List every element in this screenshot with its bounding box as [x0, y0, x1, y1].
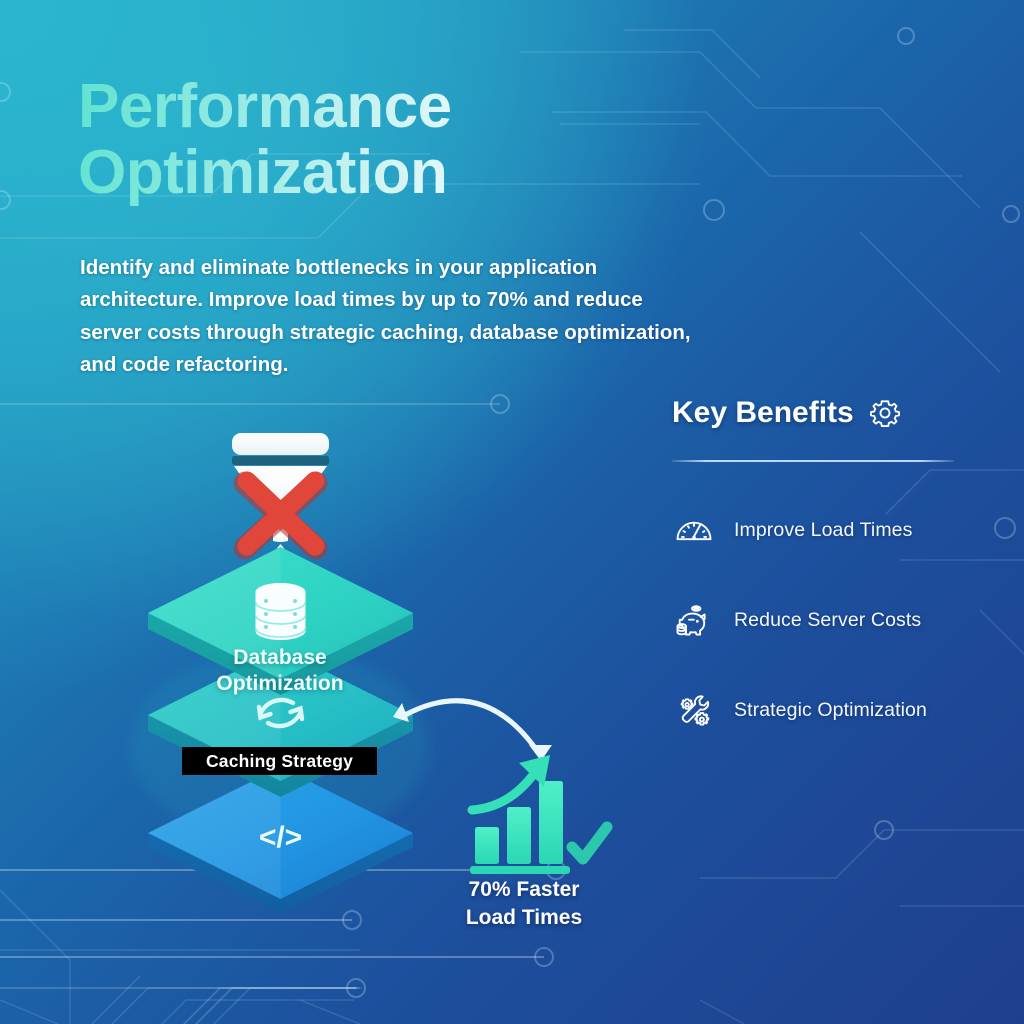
result-caption-line-1: 70% Faster: [469, 878, 580, 901]
benefit-item-improve-load-times[interactable]: Improve Load Times: [672, 508, 962, 552]
database-icon: [256, 583, 306, 640]
description-text: Identify and eliminate bottlenecks in yo…: [80, 252, 705, 382]
caching-strategy-label: Caching Strategy: [206, 751, 353, 772]
piggy-bank-coins-icon: [672, 598, 716, 642]
benefit-label: Improve Load Times: [734, 519, 912, 542]
result-caption: 70% Faster Load Times: [440, 876, 608, 932]
title-line-2: Optimization: [78, 140, 718, 206]
checkmark-icon: [572, 827, 607, 859]
page-title: Performance Optimization: [78, 74, 718, 207]
title-line-1: Performance: [78, 72, 452, 141]
growth-bar-chart-icon: [470, 755, 607, 874]
key-benefits-title: Key Benefits: [672, 396, 854, 430]
gear-icon: [868, 396, 902, 430]
result-caption-line-2: Load Times: [466, 906, 582, 929]
key-benefits-panel: Key Benefits: [672, 396, 962, 732]
wrench-gears-icon: [672, 688, 716, 732]
code-brackets-icon: </>: [259, 821, 302, 854]
infographic-canvas: Performance Optimization Identify and el…: [0, 0, 1024, 1024]
benefits-divider: [672, 460, 954, 462]
benefit-item-reduce-server-costs[interactable]: Reduce Server Costs: [672, 598, 962, 642]
caching-strategy-chip[interactable]: Caching Strategy: [182, 747, 377, 775]
benefit-item-strategic-optimization[interactable]: Strategic Optimization: [672, 688, 962, 732]
speedometer-icon: [672, 508, 716, 552]
benefit-label: Strategic Optimization: [734, 699, 927, 722]
key-benefits-heading: Key Benefits: [672, 396, 962, 430]
benefit-label: Reduce Server Costs: [734, 609, 921, 632]
